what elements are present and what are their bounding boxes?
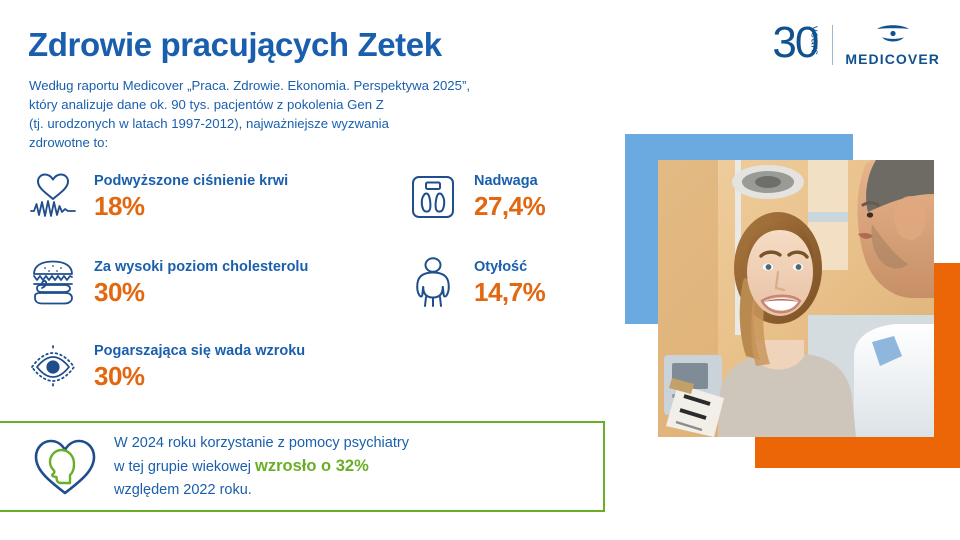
heart-ecg-icon [24, 168, 82, 226]
callout-highlight: wzrosło o 32% [255, 457, 369, 475]
stat-label: Pogarszająca się wada wzroku [94, 343, 305, 359]
stat-value: 30% [94, 277, 308, 307]
medicover-brand: MEDICOVER [845, 24, 940, 67]
stat-obesity: Otyłość 14,7% [404, 254, 545, 312]
callout-line-3: względem 2022 roku. [114, 479, 409, 502]
medicover-logo: 30 years MEDICOVER [772, 20, 940, 70]
callout-line-2-prefix: w tej grupie wiekowej [114, 459, 255, 475]
burger-icon [24, 254, 82, 312]
stat-value: 30% [94, 361, 305, 391]
logo-divider [832, 25, 833, 65]
stat-cholesterol: Za wysoki poziom cholesterolu 30% [24, 254, 308, 312]
stat-label: Podwyższone ciśnienie krwi [94, 173, 288, 189]
medicover-bird-icon [874, 24, 912, 49]
page-title: Zdrowie pracujących Zetek [28, 26, 442, 64]
anniversary-years-label: years [808, 26, 820, 64]
obese-body-icon [404, 254, 462, 312]
intro-paragraph: Według raportu Medicover „Praca. Zdrowie… [29, 76, 470, 152]
stat-value: 18% [94, 191, 288, 221]
mental-health-callout: W 2024 roku korzystanie z pomocy psychia… [0, 421, 605, 512]
heart-head-icon [32, 436, 98, 498]
scale-icon [404, 168, 462, 226]
callout-line-1: W 2024 roku korzystanie z pomocy psychia… [114, 432, 409, 455]
stat-vision: Pogarszająca się wada wzroku 30% [24, 338, 305, 396]
callout-text: W 2024 roku korzystanie z pomocy psychia… [114, 432, 409, 502]
clinic-photo [658, 160, 934, 437]
stat-label: Otyłość [474, 259, 527, 275]
stat-hypertension: Podwyższone ciśnienie krwi 18% [24, 168, 288, 226]
medicover-wordmark: MEDICOVER [845, 51, 940, 67]
decorative-orange-block-bottom [755, 437, 940, 468]
stat-overweight: Nadwaga 27,4% [404, 168, 545, 226]
eye-icon [24, 338, 82, 396]
anniversary-mark: 30 years [772, 22, 820, 68]
stat-label: Za wysoki poziom cholesterolu [94, 259, 308, 275]
stat-label: Nadwaga [474, 173, 538, 189]
stat-value: 14,7% [474, 277, 545, 307]
stat-value: 27,4% [474, 191, 545, 221]
